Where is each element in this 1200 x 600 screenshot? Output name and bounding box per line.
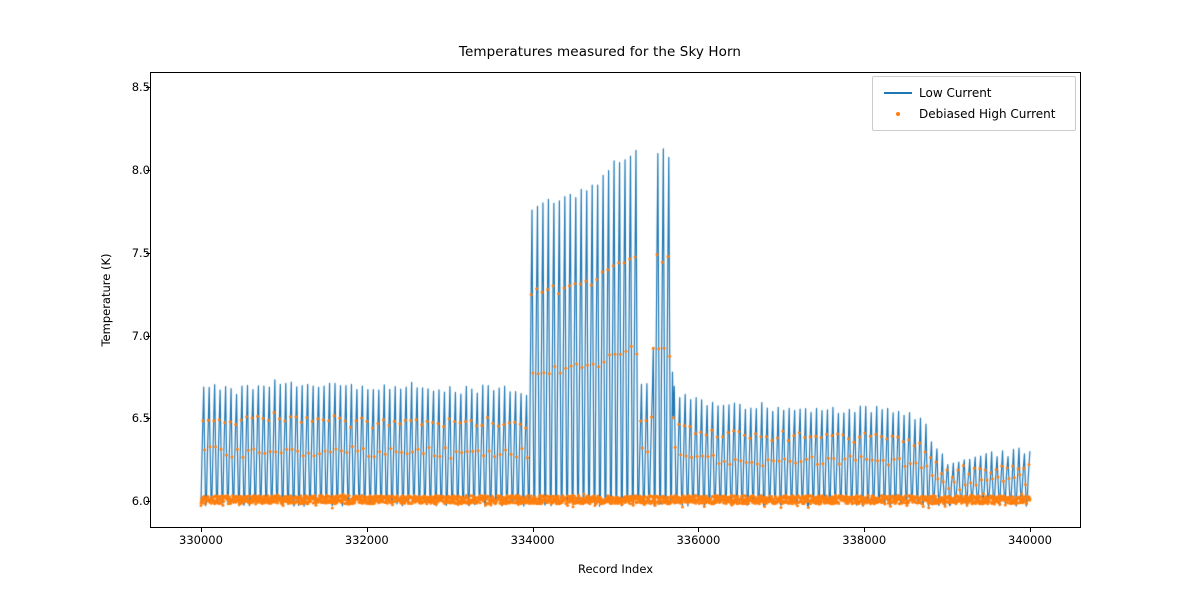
plot-axes-frame xyxy=(150,72,1081,528)
y-tick-mark xyxy=(146,87,150,88)
y-tick-mark xyxy=(146,170,150,171)
legend-item-debiased-high-current: Debiased High Current xyxy=(881,103,1067,124)
legend-label-low-current: Low Current xyxy=(915,86,992,100)
figure-canvas: Temperatures measured for the Sky Horn 6… xyxy=(0,0,1200,600)
x-tick-label: 332000 xyxy=(345,533,389,547)
chart-legend: Low Current Debiased High Current xyxy=(872,76,1076,131)
x-tick-label: 340000 xyxy=(1008,533,1052,547)
y-axis-label-wrap: Temperature (K) xyxy=(104,0,124,600)
x-tick-label: 338000 xyxy=(842,533,886,547)
x-tick-label: 336000 xyxy=(676,533,720,547)
x-axis-label: Record Index xyxy=(150,562,1081,576)
x-tick-mark xyxy=(698,528,699,532)
x-tick-mark xyxy=(864,528,865,532)
y-tick-mark xyxy=(146,253,150,254)
x-tick-mark xyxy=(367,528,368,532)
x-tick-label: 330000 xyxy=(179,533,223,547)
x-tick-mark xyxy=(201,528,202,532)
legend-label-debiased-high-current: Debiased High Current xyxy=(915,107,1055,121)
y-axis-label: Temperature (K) xyxy=(99,253,113,346)
legend-line-swatch-icon xyxy=(881,92,915,94)
y-tick-mark xyxy=(146,501,150,502)
legend-item-low-current: Low Current xyxy=(881,82,1067,103)
y-tick-mark xyxy=(146,418,150,419)
x-tick-label: 334000 xyxy=(511,533,555,547)
legend-dot-swatch-icon xyxy=(881,112,915,116)
chart-title: Temperatures measured for the Sky Horn xyxy=(0,44,1200,60)
x-tick-mark xyxy=(533,528,534,532)
x-tick-mark xyxy=(1030,528,1031,532)
y-tick-mark xyxy=(146,336,150,337)
